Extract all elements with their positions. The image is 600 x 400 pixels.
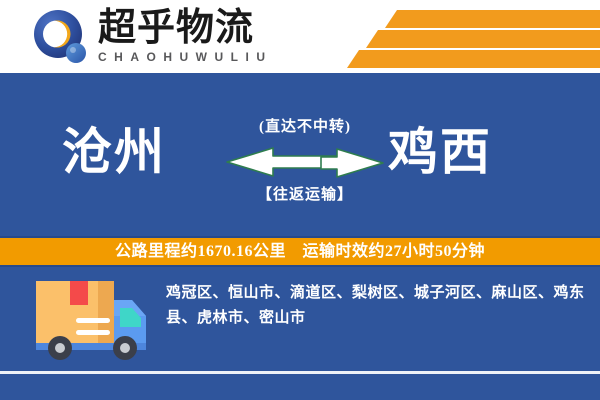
company-logo-icon: [32, 9, 90, 67]
brand-name-cn: 超乎物流: [98, 8, 348, 48]
header-bar: 超乎物流 CHAOHUWULIU: [0, 0, 600, 73]
destination-city: 鸡西: [388, 124, 492, 180]
brand-text: 超乎物流 CHAOHUWULIU: [98, 8, 348, 64]
route-arrow-group: (直达不中转) 【往返运输】: [225, 118, 385, 204]
round-trip-note: 【往返运输】: [225, 186, 385, 204]
logistics-route-banner: 超乎物流 CHAOHUWULIU 沧州 鸡西 (直达不中转): [0, 0, 600, 400]
origin-city: 沧州: [62, 124, 166, 180]
bottom-divider: [0, 371, 600, 374]
distance-duration-bar: 公路里程约1670.16公里 运输时效约27小时50分钟: [0, 236, 600, 267]
bidirectional-arrow-icon: [225, 142, 385, 182]
orange-stripes-icon: [345, 6, 600, 68]
distance-duration-text: 公路里程约1670.16公里 运输时效约27小时50分钟: [115, 243, 485, 261]
direct-service-note: (直达不中转): [225, 118, 385, 136]
coverage-district-list: 鸡冠区、恒山市、滴道区、梨树区、城子河区、麻山区、鸡东县、虎林市、密山市: [166, 281, 586, 331]
delivery-truck-icon: [30, 278, 150, 364]
brand-name-en: CHAOHUWULIU: [98, 50, 348, 64]
